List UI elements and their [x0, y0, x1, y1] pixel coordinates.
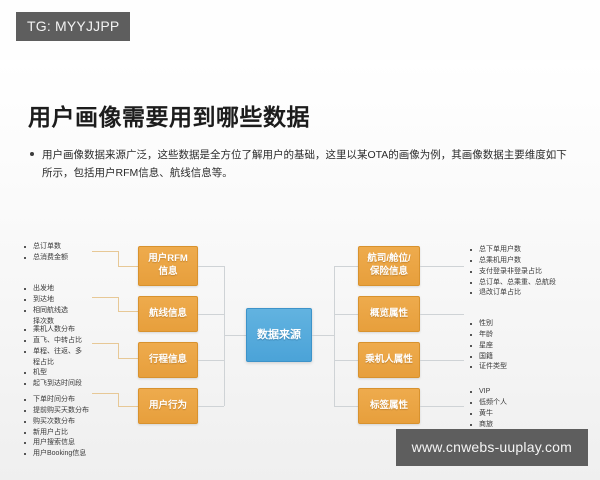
node-left-2-label: 航线信息 [149, 308, 187, 321]
right-list-group-2: 性别 年龄 星座 国籍 证件类型 [468, 319, 507, 373]
connector-left-2-c [118, 311, 140, 312]
list-item: 用户Booking信息 [22, 449, 89, 460]
slide-canvas: 用户画像需要用到哪些数据 用户画像数据来源广泛，这些数据是全方位了解用户的基础，… [0, 60, 600, 480]
list-item: 机型 [22, 368, 82, 379]
slide-page: TG: MYYJJPP 用户画像需要用到哪些数据 用户画像数据来源广泛，这些数据… [0, 0, 600, 480]
node-left-2[interactable]: 航线信息 [138, 296, 198, 332]
spine-right-stub-1 [334, 266, 358, 267]
hub-node-data-source[interactable]: 数据来源 [246, 308, 312, 362]
list-item: 总乘机用户数 [468, 256, 556, 267]
list-item: 新用户占比 [22, 428, 89, 439]
list-item: VIP [468, 387, 507, 398]
list-item: 起飞到达时间段 [22, 379, 82, 390]
list-item: 证件类型 [468, 362, 507, 373]
connector-left-1-b [118, 251, 119, 266]
list-item: 总订单、总乘重、总航段 [468, 278, 556, 289]
node-right-3[interactable]: 乘机人属性 [358, 342, 420, 378]
spine-right-stub-2 [334, 314, 358, 315]
list-item: 总订单数 [22, 242, 68, 253]
list-item: 提前购买天数分布 [22, 406, 89, 417]
list-item: 相同航线选 [22, 306, 68, 317]
node-left-4-label: 用户行为 [149, 400, 187, 413]
list-item: 程占比 [22, 358, 82, 369]
connector-left-3-c [118, 358, 140, 359]
list-item: 星座 [468, 341, 507, 352]
list-item: 年龄 [468, 330, 507, 341]
spine-right-vertical [334, 266, 335, 406]
spine-left-to-hub [224, 335, 246, 336]
spine-right-stub-3 [334, 360, 358, 361]
list-item: 退改订单占比 [468, 288, 556, 299]
node-right-4-label: 标签属性 [370, 400, 408, 413]
connector-right-1 [420, 266, 464, 267]
connector-left-4-a [92, 393, 118, 394]
list-item: 乘机人数分布 [22, 325, 82, 336]
list-item: 用户搜索信息 [22, 438, 89, 449]
connector-right-3 [420, 360, 464, 361]
node-right-2[interactable]: 概览属性 [358, 296, 420, 332]
spine-right-stub-4 [334, 406, 358, 407]
right-list-group-1: 总下单用户数 总乘机用户数 支付登录非登录占比 总订单、总乘重、总航段 退改订单… [468, 245, 556, 299]
node-right-1[interactable]: 航司/舱位/ 保险信息 [358, 246, 420, 286]
list-item: 直飞、中转占比 [22, 336, 82, 347]
list-item: 国籍 [468, 352, 507, 363]
connector-right-4 [420, 406, 464, 407]
spine-left-stub-1 [198, 266, 224, 267]
hub-node-label: 数据来源 [257, 328, 301, 343]
connector-left-4-c [118, 406, 140, 407]
connector-left-2-b [118, 297, 119, 311]
node-left-3[interactable]: 行程信息 [138, 342, 198, 378]
spine-left-stub-4 [198, 406, 224, 407]
list-item: 到达地 [22, 295, 68, 306]
connector-left-1-a [92, 251, 118, 252]
connector-left-4-b [118, 393, 119, 406]
list-item: 黄牛 [468, 409, 507, 420]
list-item: 支付登录非登录占比 [468, 267, 556, 278]
left-list-group-4: 下单时间分布 提前购买天数分布 购买次数分布 新用户占比 用户搜索信息 用户Bo… [22, 395, 89, 460]
list-item: 总下单用户数 [468, 245, 556, 256]
footer-watermark-badge: www.cnwebs-uuplay.com [396, 429, 588, 466]
connector-left-2-a [92, 297, 118, 298]
connector-left-3-b [118, 343, 119, 358]
node-right-4[interactable]: 标签属性 [358, 388, 420, 424]
list-item: 性别 [468, 319, 507, 330]
left-list-group-1: 总订单数 总消费金额 [22, 242, 68, 264]
top-watermark-badge: TG: MYYJJPP [16, 12, 130, 41]
left-list-group-3: 乘机人数分布 直飞、中转占比 单程、往返、多 程占比 机型 起飞到达时间段 [22, 325, 82, 390]
list-item: 下单时间分布 [22, 395, 89, 406]
list-item: 总消费金额 [22, 253, 68, 264]
node-right-1-label: 航司/舱位/ 保险信息 [367, 253, 410, 279]
connector-left-3-a [92, 343, 118, 344]
node-left-4[interactable]: 用户行为 [138, 388, 198, 424]
node-right-2-label: 概览属性 [370, 308, 408, 321]
spine-right-from-hub [312, 335, 334, 336]
connector-left-1-c [118, 266, 140, 267]
spine-left-stub-3 [198, 360, 224, 361]
node-left-1-label: 用户RFM 信息 [148, 253, 188, 279]
list-item: 购买次数分布 [22, 417, 89, 428]
lede-paragraph: 用户画像数据来源广泛，这些数据是全方位了解用户的基础，这里以某OTA的画像为例，… [30, 146, 575, 183]
list-item: 低频个人 [468, 398, 507, 409]
spine-left-stub-2 [198, 314, 224, 315]
node-left-1[interactable]: 用户RFM 信息 [138, 246, 198, 286]
connector-right-2 [420, 314, 464, 315]
list-item: 单程、往返、多 [22, 347, 82, 358]
list-item: 出发地 [22, 284, 68, 295]
data-source-mindmap: 总订单数 总消费金额 出发地 到达地 相同航线选 择次数 乘机人数分布 直飞、中… [0, 180, 600, 430]
lede-text: 用户画像数据来源广泛，这些数据是全方位了解用户的基础，这里以某OTA的画像为例，… [30, 146, 575, 183]
node-left-3-label: 行程信息 [149, 354, 187, 367]
left-list-group-2: 出发地 到达地 相同航线选 择次数 [22, 284, 68, 327]
spine-left-vertical [224, 266, 225, 406]
bullet-dot-icon [30, 152, 34, 156]
page-title: 用户画像需要用到哪些数据 [28, 98, 310, 132]
node-right-3-label: 乘机人属性 [365, 354, 413, 367]
